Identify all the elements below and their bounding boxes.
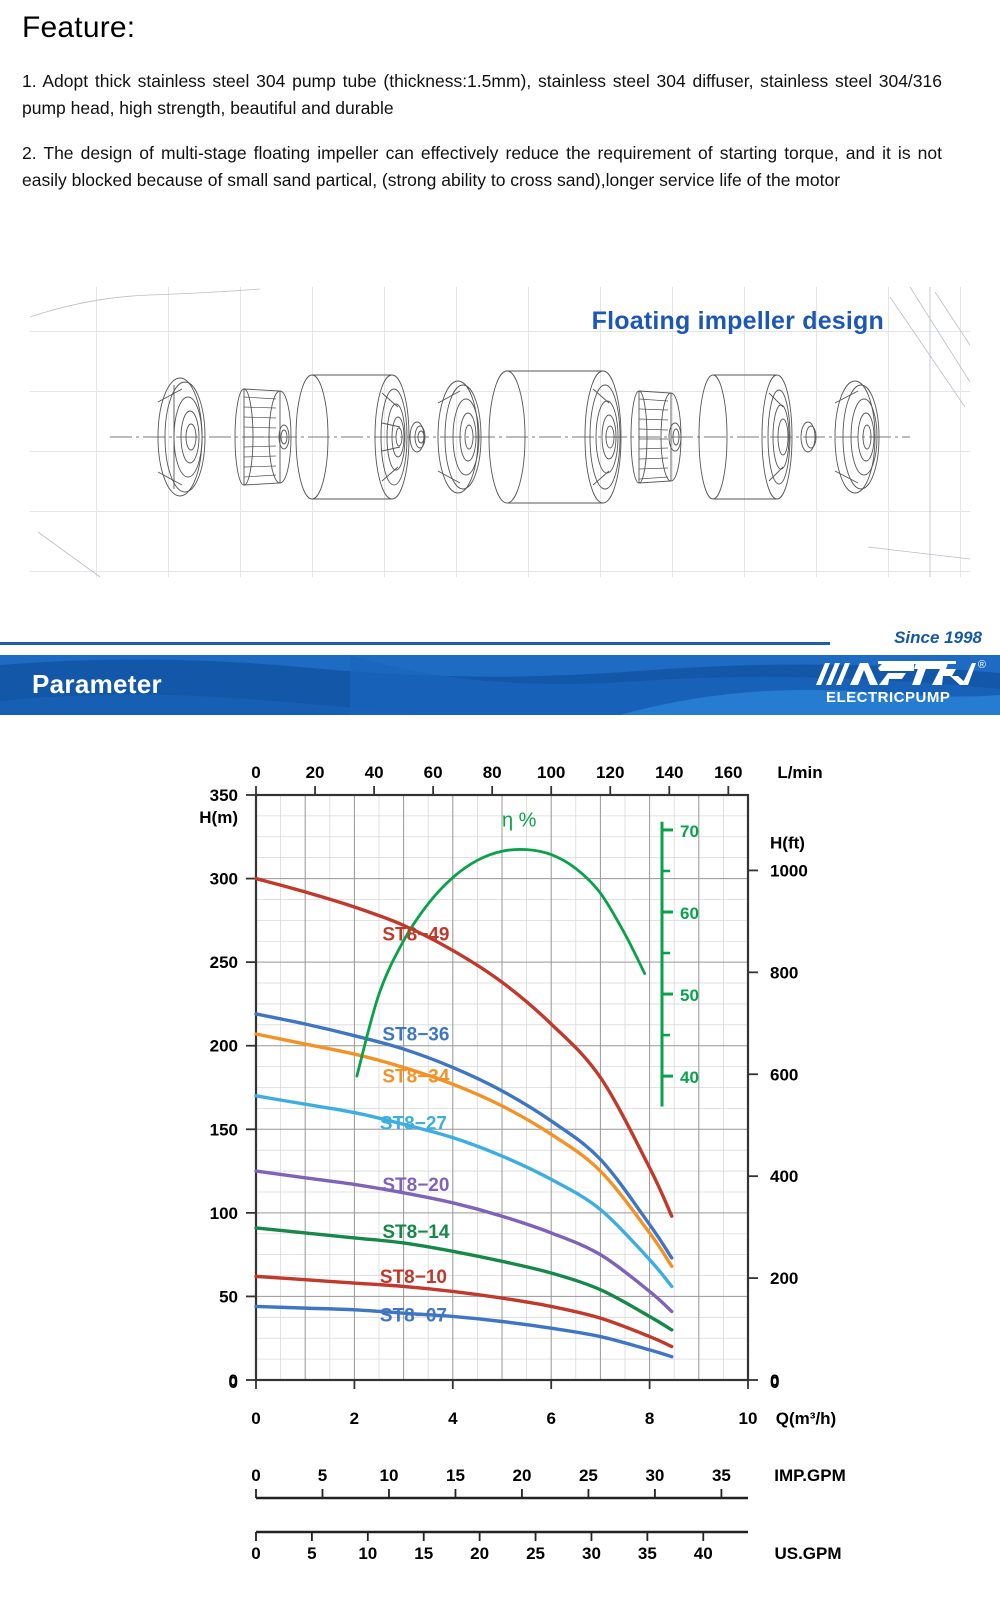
axis-tick-label-bottom: 6 [546, 1409, 555, 1428]
curve-st8-27 [256, 1096, 672, 1287]
axis-tick-label-top: 120 [596, 763, 624, 782]
axis-tick-label-left: 300 [210, 870, 238, 889]
mastra-logo: ® ELECTRICPUMP [816, 659, 986, 713]
since-label: Since 1998 [894, 628, 982, 648]
mastra-wordmark-icon [816, 659, 976, 689]
axis-tick-label-bottom: 2 [350, 1409, 359, 1428]
curve-st8-07 [256, 1306, 672, 1356]
series-label-st8-20: ST8−20 [382, 1175, 449, 1196]
axis-tick-label-imp: 15 [446, 1466, 465, 1485]
axis-tick-label-imp: 10 [380, 1466, 399, 1485]
axis-tick-label-top: 80 [483, 763, 502, 782]
axis-tick-label-right: 800 [770, 963, 798, 982]
feature-section: Feature: 1. Adopt thick stainless steel … [22, 10, 972, 213]
axis-tick-label-imp: 35 [712, 1466, 731, 1485]
axis-zero-right: 0 [770, 1373, 779, 1392]
axis-tick-label-us: 10 [358, 1544, 377, 1563]
axis-tick-label-bottom: 4 [448, 1409, 458, 1428]
axis-tick-label-imp: 0 [251, 1466, 260, 1485]
series-label-st8-27: ST8−27 [380, 1113, 447, 1134]
axis-tick-label-us: 30 [582, 1544, 601, 1563]
series-label-st8-10: ST8−10 [380, 1267, 447, 1288]
curve-st8-14 [256, 1228, 672, 1330]
axis-tick-label-top: 20 [306, 763, 325, 782]
axis-tick-label-top: 0 [251, 763, 260, 782]
pump-performance-chart: 020406080100120140160L/min05010015020025… [0, 740, 1000, 1600]
axis-tick-label-right: 400 [770, 1167, 798, 1186]
axis-tick-label-us: 5 [307, 1544, 316, 1563]
axis-tick-label-top: 40 [365, 763, 384, 782]
axis-tick-label-left: 200 [210, 1037, 238, 1056]
axis-tick-label-top: 60 [424, 763, 443, 782]
axis-title-us-gpm: US.GPM [774, 1544, 841, 1563]
feature-paragraph-1: 1. Adopt thick stainless steel 304 pump … [22, 68, 942, 122]
axis-tick-label-right: 200 [770, 1269, 798, 1288]
axis-tick-label-bottom: 0 [251, 1409, 260, 1428]
series-label-st8-07: ST8−07 [380, 1306, 447, 1327]
axis-tick-label-left: 350 [210, 786, 238, 805]
axis-tick-label-us: 15 [414, 1544, 433, 1563]
axis-tick-label-left: 100 [210, 1204, 238, 1223]
since-divider [0, 642, 830, 645]
impeller-drawing-panel: Floating impeller design [30, 287, 970, 577]
axis-tick-label-us: 35 [638, 1544, 657, 1563]
axis-tick-label-us: 0 [251, 1544, 260, 1563]
since-row: Since 1998 [0, 630, 1000, 652]
axis-tick-label-imp: 20 [512, 1466, 531, 1485]
axis-tick-label-bottom: 10 [739, 1409, 758, 1428]
axis-zero-left: 0 [229, 1373, 238, 1392]
axis-tick-label-us: 40 [694, 1544, 713, 1563]
axis-tick-label-right: 600 [770, 1065, 798, 1084]
axis-tick-label-imp: 30 [645, 1466, 664, 1485]
axis-tick-label-us: 25 [526, 1544, 545, 1563]
series-label-st8-49: ST8−49 [382, 924, 449, 945]
efficiency-tick-label: 50 [680, 986, 699, 1005]
axis-tick-label-imp: 25 [579, 1466, 598, 1485]
axis-title-q: Q(m³/h) [776, 1409, 836, 1428]
efficiency-tick-label: 40 [680, 1068, 699, 1087]
curve-st8-10 [256, 1276, 672, 1346]
axis-tick-label-top: 160 [714, 763, 742, 782]
efficiency-tick-label: 70 [680, 822, 699, 841]
efficiency-curve-label: η % [502, 810, 537, 832]
axis-tick-label-imp: 5 [318, 1466, 327, 1485]
drawing-caption: Floating impeller design [592, 307, 884, 336]
axis-tick-label-top: 100 [537, 763, 565, 782]
feature-paragraph-2: 2. The design of multi-stage floating im… [22, 140, 942, 194]
curve-st8-36 [256, 1014, 672, 1258]
parameter-banner: Parameter ® ELECTRICPUMP [0, 655, 1000, 715]
axis-title-hm: H(m) [199, 808, 238, 827]
axis-tick-label-right: 1000 [770, 861, 808, 880]
series-label-st8-34: ST8−34 [382, 1066, 450, 1087]
axis-tick-label-bottom: 8 [645, 1409, 654, 1428]
registered-mark-icon: ® [978, 659, 986, 671]
banner-title: Parameter [32, 669, 162, 700]
efficiency-tick-label: 60 [680, 904, 699, 923]
axis-title-hft: H(ft) [770, 833, 805, 852]
series-label-st8-14: ST8−14 [382, 1222, 450, 1243]
axis-tick-label-top: 140 [655, 763, 683, 782]
brand-subtitle: ELECTRICPUMP [826, 689, 950, 706]
feature-heading: Feature: [22, 10, 972, 46]
axis-tick-label-left: 50 [219, 1287, 238, 1306]
performance-curve-chart: 020406080100120140160L/min05010015020025… [0, 740, 1000, 1600]
axis-title-imp-gpm: IMP.GPM [774, 1466, 845, 1485]
axis-title-lmin: L/min [777, 763, 822, 782]
axis-tick-label-us: 20 [470, 1544, 489, 1563]
series-label-st8-36: ST8−36 [382, 1025, 449, 1046]
axis-tick-label-left: 250 [210, 953, 238, 972]
axis-tick-label-left: 150 [210, 1120, 238, 1139]
